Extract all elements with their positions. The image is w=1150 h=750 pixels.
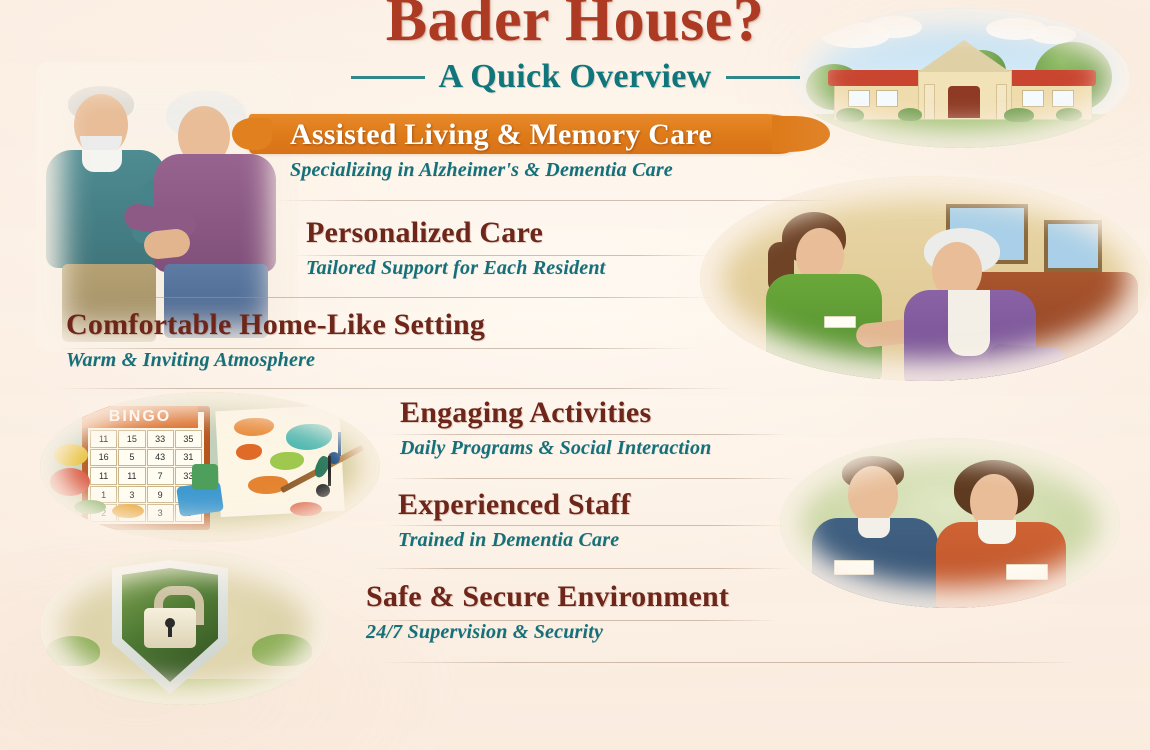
bingo-cell: 16	[90, 449, 117, 467]
feature-subtext: Tailored Support for Each Resident	[306, 257, 605, 280]
bingo-cell: 43	[147, 449, 174, 467]
feature-subtext: Specializing in Alzheimer's & Dementia C…	[290, 159, 712, 182]
feature-heading: Safe & Secure Environment	[366, 580, 729, 614]
page-subtitle-row: A Quick Overview	[0, 58, 1150, 96]
feature-item-safe-secure-environment: Safe & Secure Environment 24/7 Supervisi…	[366, 580, 729, 644]
feature-item-engaging-activities: Engaging Activities Daily Programs & Soc…	[400, 396, 711, 460]
bingo-and-art-activities-image: BINGO 111533351654331111173313982532	[40, 392, 380, 542]
feature-heading: Assisted Living & Memory Care	[290, 118, 712, 152]
bingo-cell: 3	[147, 504, 174, 522]
feature-subtext: Warm & Inviting Atmosphere	[66, 349, 485, 372]
feature-item-assisted-living: Assisted Living & Memory Care Specializi…	[290, 118, 712, 182]
page-subtitle: A Quick Overview	[439, 58, 712, 96]
security-shield-padlock-image	[40, 550, 330, 705]
feature-item-home-like-setting: Comfortable Home-Like Setting Warm & Inv…	[66, 308, 485, 372]
feature-subtext: Daily Programs & Social Interaction	[400, 437, 711, 460]
subtitle-rule-left	[351, 76, 425, 79]
page-title: Bader House?	[0, 0, 1150, 53]
bingo-cell: 3	[118, 486, 145, 504]
feature-item-personalized-care: Personalized Care Tailored Support for E…	[306, 216, 605, 280]
divider-rule	[372, 568, 792, 569]
staff-members-portrait-image	[780, 438, 1120, 608]
caregiver-with-resident-image	[700, 176, 1150, 381]
subtitle-rule-right	[726, 76, 800, 79]
feature-subtext: Trained in Dementia Care	[398, 529, 631, 552]
bingo-cell: 9	[147, 486, 174, 504]
bingo-cell: 11	[90, 430, 117, 448]
bingo-cell: 35	[175, 430, 202, 448]
bingo-cell: 11	[90, 467, 117, 485]
feature-subtext: 24/7 Supervision & Security	[366, 621, 729, 644]
padlock-keyhole	[165, 618, 175, 628]
bingo-cell: 7	[147, 467, 174, 485]
divider-rule	[388, 478, 798, 479]
bingo-title: BINGO	[82, 406, 198, 428]
bingo-cell: 5	[118, 449, 145, 467]
feature-heading: Personalized Care	[306, 216, 605, 250]
feature-heading: Experienced Staff	[398, 488, 631, 522]
bingo-cell: 15	[118, 430, 145, 448]
divider-rule	[380, 662, 1080, 663]
feature-heading: Engaging Activities	[400, 396, 711, 430]
infographic-poster: BINGO 111533351654331111173313982532	[0, 0, 1150, 750]
feature-item-experienced-staff: Experienced Staff Trained in Dementia Ca…	[398, 488, 631, 552]
bingo-cell: 33	[147, 430, 174, 448]
bingo-cell: 11	[118, 467, 145, 485]
divider-rule	[275, 200, 835, 201]
feature-heading: Comfortable Home-Like Setting	[66, 308, 485, 342]
divider-rule	[56, 297, 716, 298]
divider-rule	[56, 388, 736, 389]
